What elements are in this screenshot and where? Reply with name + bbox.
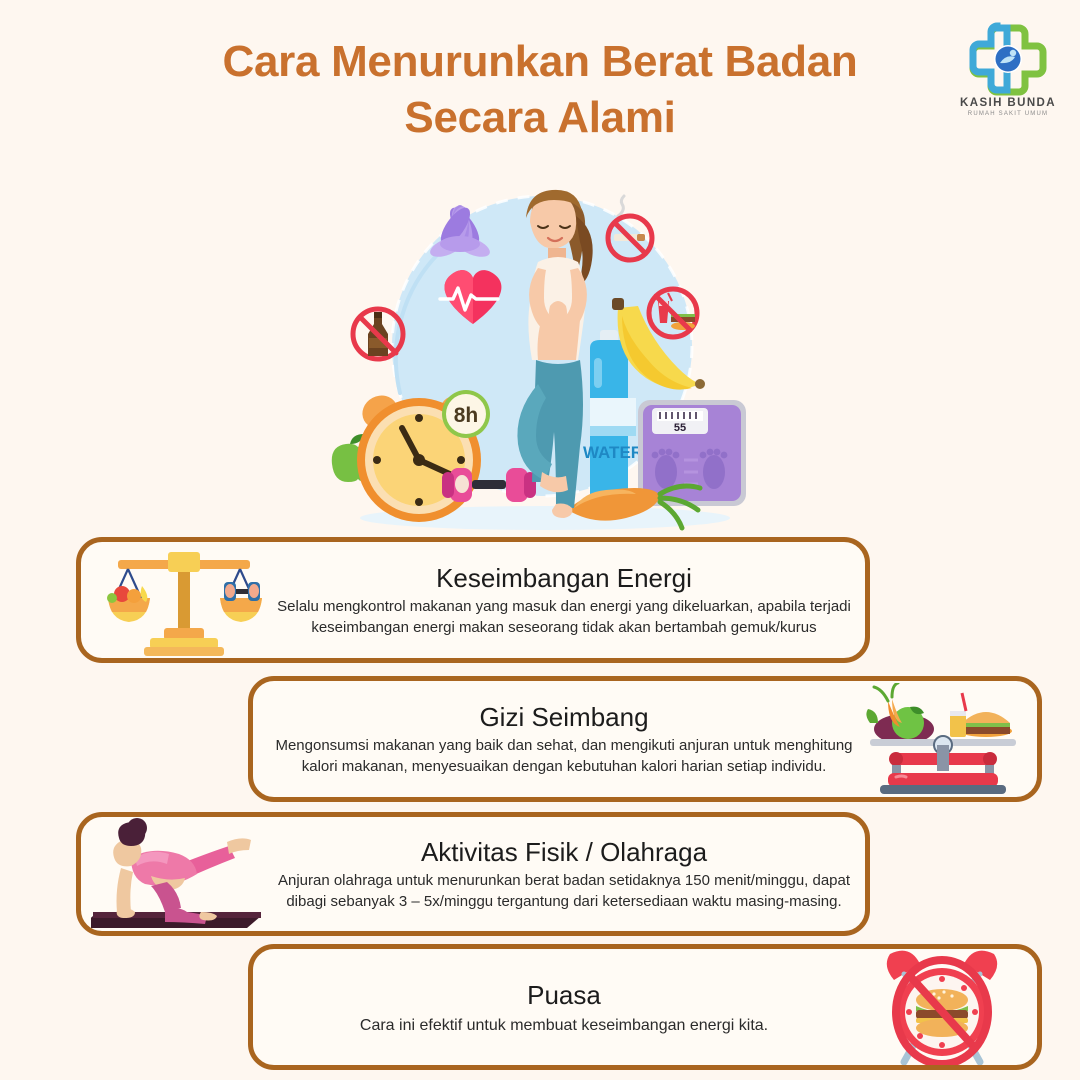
- card-heading: Keseimbangan Energi: [436, 562, 692, 594]
- page-title: Cara Menurunkan Berat Badan Secara Alami: [0, 34, 1080, 146]
- info-card-keseimbangan-energi[interactable]: Keseimbangan Energi Selalu mengkontrol m…: [76, 537, 870, 663]
- card-text-block: Puasa Cara ini efektif untuk membuat kes…: [267, 949, 861, 1065]
- sleep-badge-label: 8h: [454, 404, 479, 427]
- info-card-puasa[interactable]: Puasa Cara ini efektif untuk membuat kes…: [248, 944, 1042, 1070]
- hospital-logo: KASIH BUNDA RUMAH SAKIT UMUM: [954, 22, 1062, 132]
- info-card-gizi-seimbang[interactable]: Gizi Seimbang Mengonsumsi makanan yang b…: [248, 676, 1042, 802]
- no-eating-alarm-clock-icon: [854, 949, 1029, 1065]
- logo-subtitle: RUMAH SAKIT UMUM: [954, 111, 1062, 117]
- sleep-hours-badge: 8h: [442, 390, 490, 438]
- bottle-label: WATER: [583, 443, 643, 462]
- card-heading: Gizi Seimbang: [479, 701, 648, 733]
- hero-illustration: 8h WATER: [330, 178, 750, 540]
- title-line-1: Cara Menurunkan Berat Badan: [0, 34, 1080, 90]
- card-body: Mengonsumsi makanan yang baik dan sehat,…: [267, 735, 861, 777]
- infographic-page: Cara Menurunkan Berat Badan Secara Alami…: [0, 0, 1080, 1080]
- card-body: Selalu mengkontrol makanan yang masuk da…: [277, 596, 851, 638]
- weighing-scale-icon: 55: [638, 400, 746, 506]
- logo-name: KASIH BUNDA: [954, 97, 1062, 109]
- card-body: Cara ini efektif untuk membuat keseimban…: [360, 1015, 768, 1036]
- info-card-aktivitas-fisik-olahraga[interactable]: Aktivitas Fisik / Olahraga Anjuran olahr…: [76, 812, 870, 936]
- scale-reading: 55: [674, 422, 686, 434]
- card-text-block: Keseimbangan Energi Selalu mengkontrol m…: [277, 542, 851, 658]
- card-text-block: Aktivitas Fisik / Olahraga Anjuran olahr…: [277, 817, 851, 931]
- red-balance-scale-vegetables-burger-icon: [854, 681, 1029, 797]
- card-heading: Puasa: [527, 979, 601, 1011]
- card-heading: Aktivitas Fisik / Olahraga: [421, 836, 707, 868]
- woman-exercise-mat-icon: [89, 817, 279, 931]
- title-line-2: Secara Alami: [0, 90, 1080, 146]
- balance-scale-fruit-dumbbell-icon: [89, 542, 279, 658]
- card-text-block: Gizi Seimbang Mengonsumsi makanan yang b…: [267, 681, 861, 797]
- card-body: Anjuran olahraga untuk menurunkan berat …: [277, 870, 851, 912]
- kasih-bunda-cross-icon: [969, 22, 1047, 96]
